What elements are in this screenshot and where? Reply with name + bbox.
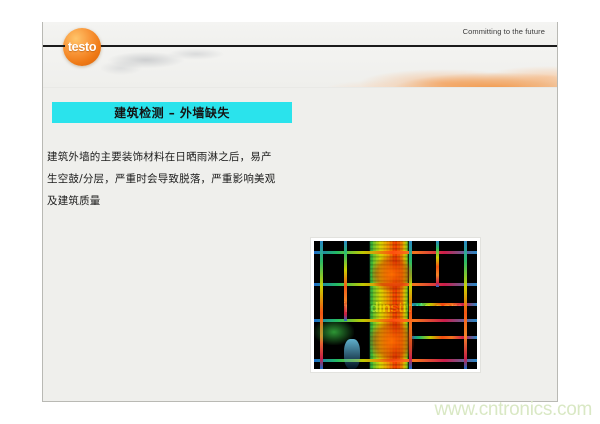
thermal-cool-stripe (344, 339, 360, 369)
header-tagline: Committing to the future (463, 27, 545, 36)
header-smoke-decoration (101, 46, 251, 82)
thermal-image-watermark: infraredinstitute.com (318, 299, 473, 315)
body-line: 生空鼓/分层，严重时会导致脱落，严重影响美观 (47, 168, 347, 190)
thermal-grid-line (314, 251, 477, 254)
testo-logo: testo (63, 28, 101, 66)
slide-body-text: 建筑外墙的主要装饰材料在日晒雨淋之后，易产 生空鼓/分层，严重时会导致脱落，严重… (47, 146, 347, 212)
thermal-hotspot (370, 321, 414, 361)
presentation-slide: Committing to the future testo 建筑检测 – 外墙… (42, 22, 558, 402)
thermal-hotspot (372, 257, 412, 291)
thermal-grid-line (436, 241, 439, 287)
logo-dash-left (49, 45, 65, 47)
slide-body: 建筑检测 – 外墙缺失 建筑外墙的主要装饰材料在日晒雨淋之后，易产 生空鼓/分层… (43, 88, 558, 382)
thermal-image-frame: infraredinstitute.com (311, 238, 480, 372)
site-watermark: www.cntronics.com (435, 399, 593, 421)
slide-header: Committing to the future testo (43, 22, 558, 88)
page-title: 建筑检测 – 外墙缺失 (114, 104, 230, 121)
screenshot-page: Committing to the future testo 建筑检测 – 外墙… (0, 0, 600, 424)
testo-logo-text: testo (63, 28, 101, 66)
slide-title-band: 建筑检测 – 外墙缺失 (52, 102, 292, 123)
body-line: 及建筑质量 (47, 190, 347, 212)
thermal-image: infraredinstitute.com (314, 241, 477, 369)
body-line: 建筑外墙的主要装饰材料在日晒雨淋之后，易产 (47, 146, 347, 168)
